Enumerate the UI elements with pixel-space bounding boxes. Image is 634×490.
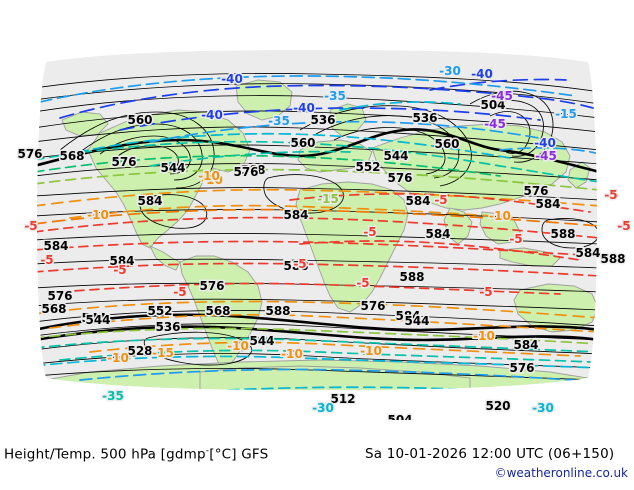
isotherm-label: -5	[356, 276, 369, 290]
height-contour-label: 536	[310, 113, 335, 127]
height-contour-label: 584	[137, 194, 162, 208]
height-contour-label: 588	[600, 252, 625, 266]
height-contour-label: 584	[425, 227, 450, 241]
height-contour-label: 576	[47, 289, 72, 303]
isotherm-label: -30	[532, 401, 554, 415]
isotherm-label: -5	[604, 188, 617, 202]
height-contour-label: 560	[127, 113, 152, 127]
height-contour-label: 584	[43, 239, 68, 253]
height-contour-label: 576	[523, 184, 548, 198]
height-contour-label: 584	[283, 208, 308, 222]
isotherm-label: -45	[535, 149, 557, 163]
isotherm-label: -10	[473, 329, 495, 343]
copyright-credit: ©weatheronline.co.uk	[495, 466, 628, 480]
height-contour-label: 552	[355, 160, 380, 174]
height-contour-label: 576	[387, 171, 412, 185]
weather-map-page: 5605445685765765845845845765685445525365…	[0, 0, 634, 490]
isotherm-label: -5	[479, 285, 492, 299]
height-contour-label: 568	[205, 304, 230, 318]
height-contour-label: 584	[535, 197, 560, 211]
isotherm-label: -10	[489, 209, 511, 223]
height-contour-label: 560	[290, 136, 315, 150]
height-contour-label: 576	[17, 147, 42, 161]
isotherm-label: -10	[87, 208, 109, 222]
isotherm-label: -5	[113, 263, 126, 277]
map-title-prefix: Height/Temp. 500 hPa [gdmp	[4, 447, 206, 463]
height-contour-label: 544	[383, 149, 408, 163]
isotherm-label: -10	[281, 347, 303, 361]
isotherm-label: -35	[324, 89, 346, 103]
height-contour-label: 568	[59, 149, 84, 163]
isotherm-label: -15	[152, 346, 174, 360]
map-title-suffix: [°C] GFS	[209, 447, 268, 463]
height-contour-label: 504	[387, 413, 412, 420]
isotherm-label: -45	[484, 117, 506, 131]
isotherm-label: -5	[363, 225, 376, 239]
height-contour-label: 584	[405, 194, 430, 208]
isotherm-label: -40	[293, 101, 315, 115]
isotherm-label: -10	[227, 339, 249, 353]
isotherm-label: -5	[434, 193, 447, 207]
isotherm-label: -40	[221, 72, 243, 86]
height-contour-label: 588	[399, 270, 424, 284]
height-contour-label: 512	[330, 392, 355, 406]
isotherm-label: -40	[201, 108, 223, 122]
height-contour-label: 536	[412, 111, 437, 125]
isotherm-label: -5	[173, 285, 186, 299]
height-contour-label: 544	[404, 314, 429, 328]
height-contour-label: 588	[265, 304, 290, 318]
isotherm-label: -5	[509, 232, 522, 246]
isotherm-label: -30	[312, 401, 334, 415]
isotherm-label: -40	[534, 136, 556, 150]
model-run-timestamp: Sa 10-01-2026 12:00 UTC (06+150)	[365, 446, 614, 462]
isotherm-label: -5	[40, 253, 53, 267]
isotherm-label: -5	[24, 219, 37, 233]
height-contour-label: 576	[111, 155, 136, 169]
height-contour-label: 536	[155, 320, 180, 334]
height-contour-label: 520	[485, 399, 510, 413]
isotherm-label: -5	[617, 219, 630, 233]
isotherm-label: -30	[439, 64, 461, 78]
height-contour-label: 528	[127, 344, 152, 358]
height-contour-label: 576	[509, 361, 534, 375]
isotherm-label: -10	[198, 169, 220, 183]
height-contour-label: 576	[199, 279, 224, 293]
isotherm-label: -10	[360, 344, 382, 358]
height-contour-label: 544	[249, 334, 274, 348]
isotherm-label: -45	[491, 89, 513, 103]
height-contour-label: 544	[85, 313, 110, 327]
isotherm-label: -15	[555, 107, 577, 121]
height-contour-label: 568	[41, 302, 66, 316]
height-contour-label: 576	[233, 165, 258, 179]
isotherm-label: -40	[471, 67, 493, 81]
height-contour-label: 544	[160, 161, 185, 175]
isotherm-label: -5	[293, 257, 306, 271]
isotherm-label: -35	[268, 114, 290, 128]
height-contour-label: 584	[575, 246, 600, 260]
map-title: Height/Temp. 500 hPa [gdmp-[°C] GFS	[4, 446, 268, 463]
world-map-svg[interactable]: 5605445685765765845845845765685445525365…	[0, 0, 634, 420]
isotherm-label: -35	[102, 389, 124, 403]
isotherm-label: -15	[317, 192, 339, 206]
map-panel[interactable]: 5605445685765765845845845765685445525365…	[0, 0, 634, 420]
height-contour-label: 552	[147, 304, 172, 318]
height-contour-label: 576	[360, 299, 385, 313]
height-contour-label: 584	[513, 338, 538, 352]
height-contour-label: 560	[434, 137, 459, 151]
isotherm-label: -10	[107, 351, 129, 365]
land-new-zealand	[606, 326, 622, 344]
height-contour-label: 588	[550, 227, 575, 241]
footer-bar: Height/Temp. 500 hPa [gdmp-[°C] GFS Sa 1…	[0, 420, 634, 490]
